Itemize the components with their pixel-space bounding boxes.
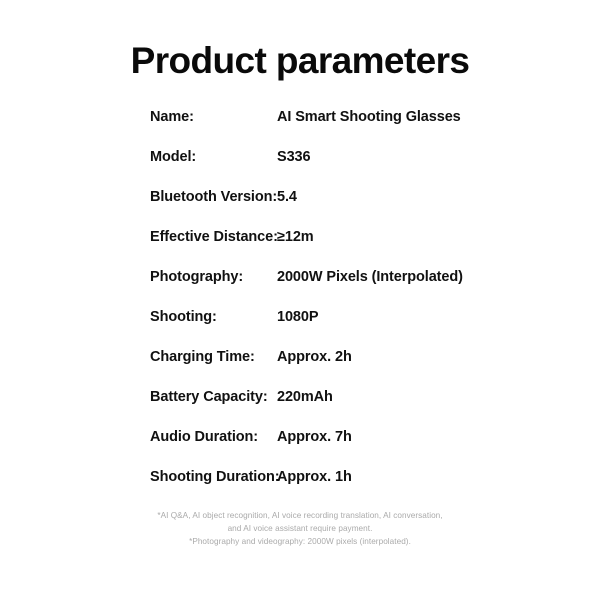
- table-row: Shooting Duration: Approx. 1h: [150, 466, 480, 506]
- table-row: Effective Distance: ≥12m: [150, 226, 480, 266]
- spec-value-audio-duration: Approx. 7h: [277, 426, 480, 448]
- spec-label-name: Name:: [150, 106, 277, 128]
- spec-label-photography: Photography:: [150, 266, 277, 288]
- spec-label-battery-capacity: Battery Capacity:: [150, 386, 277, 408]
- table-row: Name: AI Smart Shooting Glasses: [150, 106, 480, 146]
- table-row: Audio Duration: Approx. 7h: [150, 426, 480, 466]
- table-row: Shooting: 1080P: [150, 306, 480, 346]
- table-row: Charging Time: Approx. 2h: [150, 346, 480, 386]
- spec-value-photography: 2000W Pixels (Interpolated): [277, 266, 480, 288]
- table-row: Model: S336: [150, 146, 480, 186]
- spec-value-name: AI Smart Shooting Glasses: [277, 106, 480, 128]
- product-parameters-sheet: Product parameters Name: AI Smart Shooti…: [0, 0, 600, 600]
- spec-label-charging-time: Charging Time:: [150, 346, 277, 368]
- footnote-line-1: *AI Q&A, AI object recognition, AI voice…: [0, 509, 600, 522]
- spec-value-effective-distance: ≥12m: [277, 226, 480, 248]
- spec-label-audio-duration: Audio Duration:: [150, 426, 277, 448]
- page-title: Product parameters: [0, 39, 600, 83]
- spec-value-charging-time: Approx. 2h: [277, 346, 480, 368]
- table-row: Bluetooth Version: 5.4: [150, 186, 480, 226]
- spec-value-shooting: 1080P: [277, 306, 480, 328]
- spec-label-effective-distance: Effective Distance:: [150, 226, 277, 248]
- spec-value-shooting-duration: Approx. 1h: [277, 466, 480, 488]
- footnote-line-3: *Photography and videography: 2000W pixe…: [0, 535, 600, 548]
- footnote-line-2: and AI voice assistant require payment.: [0, 522, 600, 535]
- spec-label-bluetooth-version: Bluetooth Version:: [150, 186, 277, 208]
- spec-value-bluetooth-version: 5.4: [277, 186, 480, 208]
- footnotes: *AI Q&A, AI object recognition, AI voice…: [0, 509, 600, 548]
- spec-value-model: S336: [277, 146, 480, 168]
- specifications-table: Name: AI Smart Shooting Glasses Model: S…: [150, 106, 480, 506]
- table-row: Photography: 2000W Pixels (Interpolated): [150, 266, 480, 306]
- spec-label-shooting: Shooting:: [150, 306, 277, 328]
- table-row: Battery Capacity: 220mAh: [150, 386, 480, 426]
- spec-label-model: Model:: [150, 146, 277, 168]
- spec-value-battery-capacity: 220mAh: [277, 386, 480, 408]
- spec-label-shooting-duration: Shooting Duration:: [150, 466, 277, 488]
